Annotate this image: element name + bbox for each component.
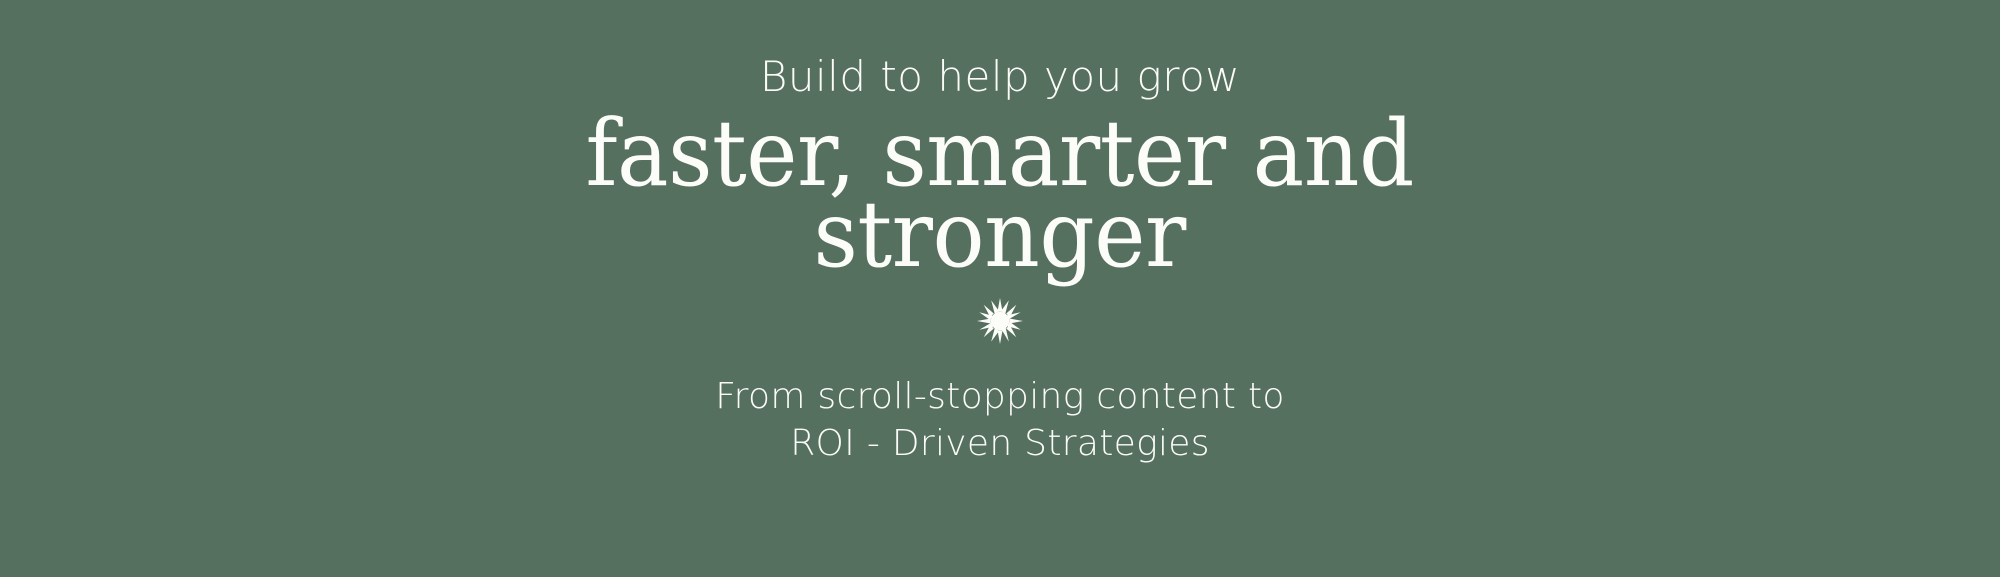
hero-subtitle-line-2: ROI - Driven Strategies [715,421,1284,468]
hero-headline-line-2: stronger [586,195,1414,276]
starburst-icon [977,298,1023,344]
hero-subtitle: From scroll-stopping content to ROI - Dr… [715,374,1284,468]
hero-eyebrow: Build to help you grow [760,56,1240,98]
hero-headline: faster, smarter and stronger [586,114,1414,276]
starburst-divider [977,298,1023,344]
hero-subtitle-line-1: From scroll-stopping content to [715,374,1284,421]
hero-banner: Build to help you grow faster, smarter a… [0,0,2000,577]
